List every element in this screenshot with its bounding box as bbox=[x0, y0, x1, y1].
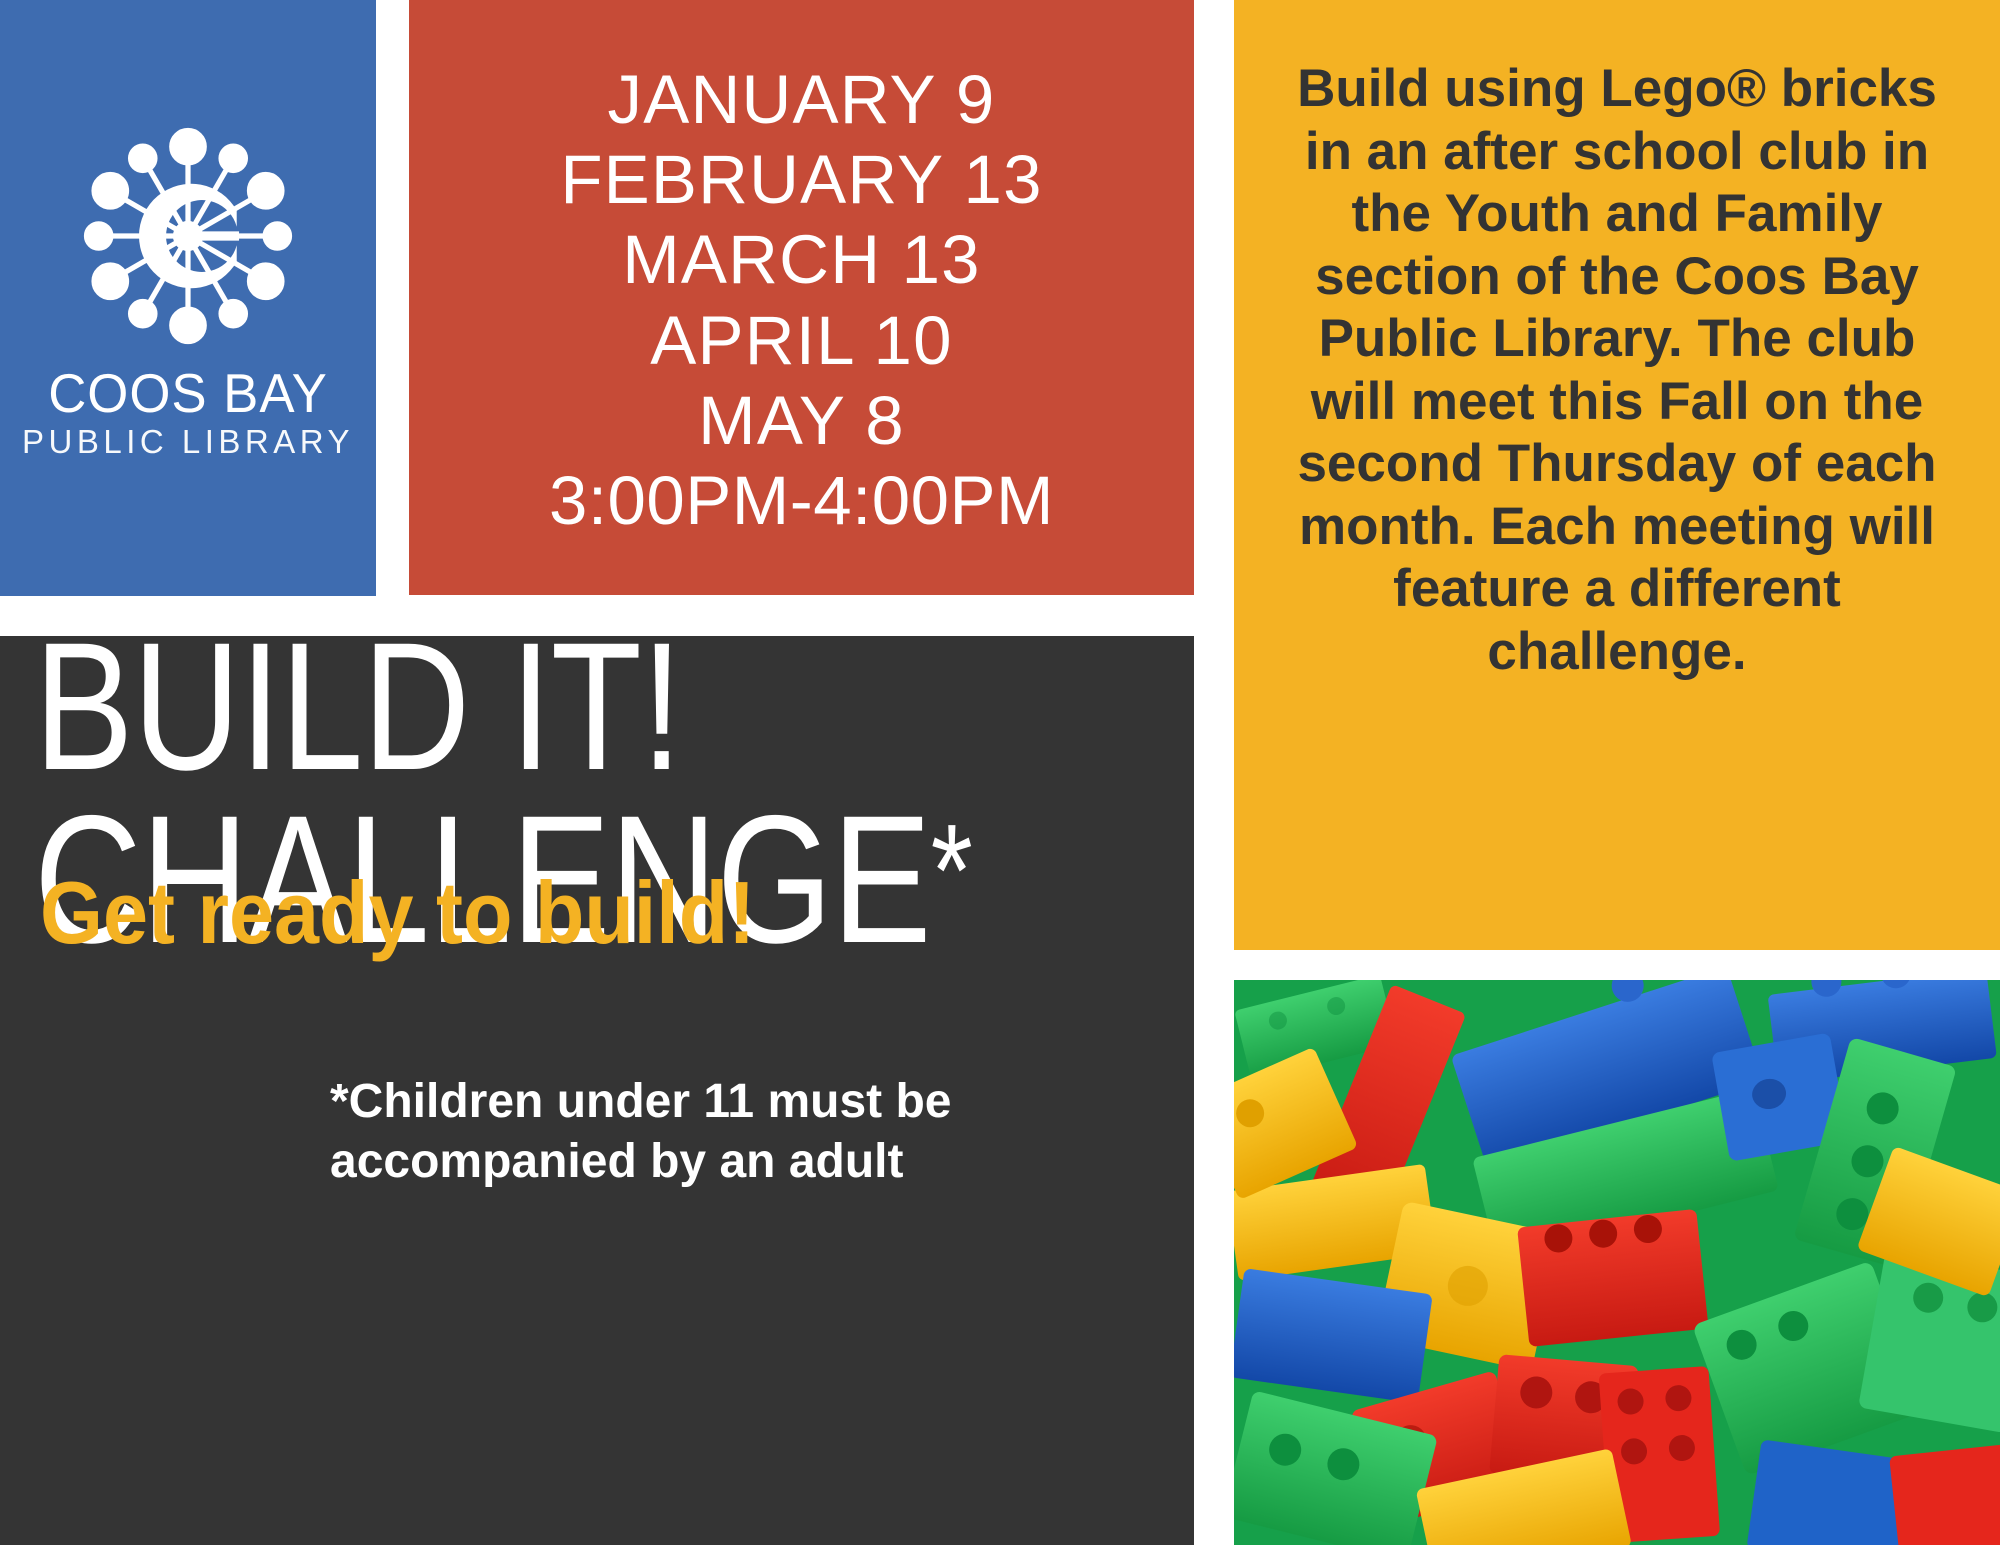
subheadline: Get ready to build! bbox=[40, 862, 755, 964]
description-panel: Build using Lego® bricks in an after sch… bbox=[1234, 0, 2000, 950]
headline-panel: BUILD IT! CHALLENGE* Get ready to build!… bbox=[0, 636, 1194, 1545]
starburst-network-c-icon bbox=[72, 120, 304, 352]
description-text: Build using Lego® bricks in an after sch… bbox=[1270, 58, 1964, 683]
date-item: JANUARY 9 bbox=[608, 60, 996, 140]
library-name-secondary: PUBLIC LIBRARY bbox=[0, 421, 376, 462]
library-name-primary: COOS BAY bbox=[8, 366, 369, 421]
library-logo-panel: COOS BAY PUBLIC LIBRARY bbox=[0, 0, 376, 596]
dates-panel: JANUARY 9 FEBRUARY 13 MARCH 13 APRIL 10 … bbox=[409, 0, 1194, 595]
headline-asterisk: * bbox=[931, 797, 972, 944]
date-item: FEBRUARY 13 bbox=[560, 140, 1042, 220]
flyer-poster: COOS BAY PUBLIC LIBRARY JANUARY 9 FEBRUA… bbox=[0, 0, 2000, 1545]
date-item: APRIL 10 bbox=[650, 301, 952, 381]
event-time: 3:00PM-4:00PM bbox=[549, 461, 1054, 541]
footnote-text: *Children under 11 must be accompanied b… bbox=[330, 1072, 1160, 1191]
lego-bricks-photo bbox=[1234, 980, 2000, 1545]
date-item: MARCH 13 bbox=[622, 220, 981, 300]
library-wordmark: COOS BAY PUBLIC LIBRARY bbox=[0, 366, 376, 462]
date-item: MAY 8 bbox=[698, 381, 905, 461]
headline-line-1: BUILD IT! bbox=[34, 620, 961, 793]
